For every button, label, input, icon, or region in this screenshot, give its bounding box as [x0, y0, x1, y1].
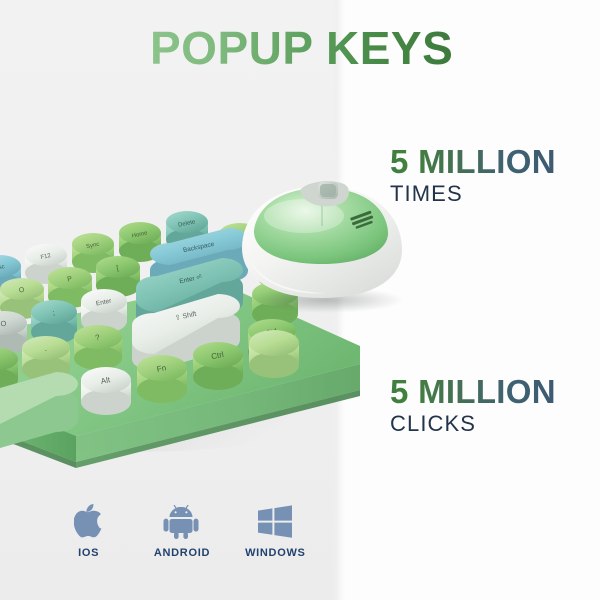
- stat-value-clicks: 5 MILLION: [390, 375, 556, 409]
- platform-label-android: ANDROID: [154, 547, 210, 559]
- platform-item-ios: IOS: [42, 495, 135, 575]
- platform-item-windows: WINDOWS: [229, 495, 322, 575]
- platform-label-ios: IOS: [78, 547, 99, 559]
- windows-icon: [256, 495, 294, 539]
- product-banner: Esc F12 Sync Home Delete Home A O P [ Ba…: [0, 0, 600, 600]
- stat-label-clicks: CLICKS: [390, 411, 556, 436]
- stat-block-times: 5 MILLION TIMES: [390, 145, 556, 206]
- svg-text:Fn: Fn: [156, 363, 167, 374]
- mouse-illustration: [226, 160, 416, 315]
- apple-icon: [74, 495, 104, 539]
- platform-label-windows: WINDOWS: [245, 547, 306, 559]
- apple-icon-svg: [74, 503, 104, 539]
- platform-compatibility-row: IOS ANDROID: [42, 495, 322, 575]
- page-title: POPUP KEYS: [150, 25, 453, 71]
- stat-block-clicks: 5 MILLION CLICKS: [390, 375, 556, 436]
- android-icon-svg: [163, 505, 201, 539]
- stat-label-times: TIMES: [390, 181, 556, 206]
- platform-item-android: ANDROID: [135, 495, 228, 575]
- stat-value-times: 5 MILLION: [390, 145, 556, 179]
- popup-keys-mouse: [226, 160, 416, 315]
- windows-icon-svg: [256, 505, 294, 539]
- android-icon: [163, 495, 201, 539]
